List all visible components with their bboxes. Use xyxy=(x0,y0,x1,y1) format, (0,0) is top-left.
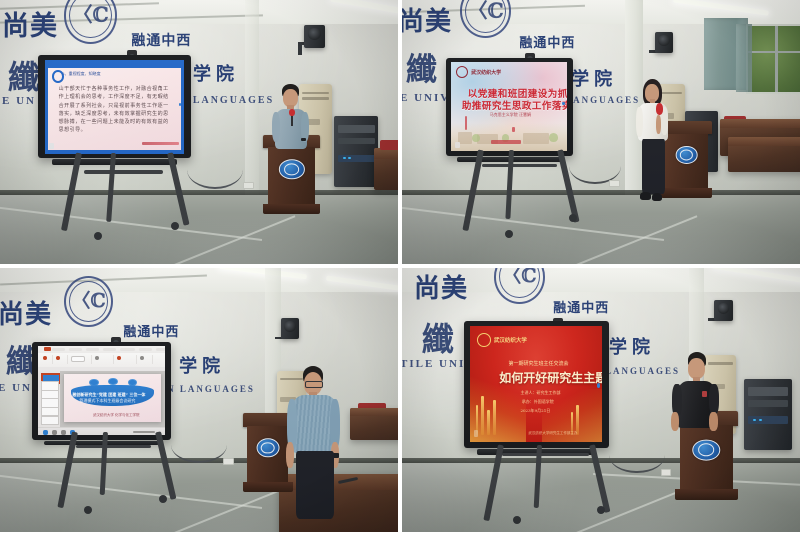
conference-table xyxy=(350,408,398,440)
wall-text-shangmei: 尚美 xyxy=(2,13,58,40)
tab-animations[interactable] xyxy=(139,348,152,352)
podium-university-logo-icon xyxy=(693,440,720,461)
wall-text-calligraphy: 纖 xyxy=(8,61,41,93)
slide-meta-line2: 承办：外国语学院 xyxy=(522,399,554,405)
display-stand-caster-left xyxy=(84,506,92,514)
slide-logo-text: 武汉纺织大学 xyxy=(494,336,527,344)
window-mullion-h xyxy=(748,51,800,54)
forearm-raised xyxy=(656,115,661,134)
slide-bullet-heading: 2、重视程度、知晓度 xyxy=(62,71,101,77)
slide-corner-dot xyxy=(597,383,600,388)
wall-text-xueyuan: 学院 xyxy=(179,358,225,376)
ribbon-icon-3[interactable] xyxy=(71,356,85,362)
ppt-thumbnail-pane[interactable] xyxy=(38,371,61,428)
display-power-cable xyxy=(609,437,665,473)
wall-text-english-left: E UN xyxy=(2,95,36,107)
slide-left-bar xyxy=(45,60,48,154)
display-stand-rail xyxy=(84,170,164,173)
display-screen[interactable]: 武汉纺织大学 以党建和班团建设为抓手 助推研究生思政工作落实落细 马克思主义学院… xyxy=(451,62,567,151)
wall-text-rongtong: 融通中西 xyxy=(131,34,191,48)
microphone-handle xyxy=(291,115,293,126)
glasses-icon xyxy=(305,381,323,388)
slide-deco-icon-2 xyxy=(108,378,118,385)
slide-thumbnail-6[interactable] xyxy=(41,416,59,425)
wall-speaker xyxy=(281,318,299,339)
ppt-current-slide[interactable]: 融创新研究生“党建 团建 班建” 三位一体 管理模式下本科生班级会议研究 武汉纺… xyxy=(64,374,161,422)
slide-presenter-line: 马克思主义学院 汪慧娟 xyxy=(490,112,531,118)
slide-footer-badge xyxy=(491,140,521,144)
speaker-bracket-2 xyxy=(298,42,302,55)
wall-text-calligraphy: 纖 xyxy=(422,323,455,355)
slide-footer: 武汉纺织大学研究生工作部主办 xyxy=(528,431,577,436)
wall-text-english-right: N LANGUAGES xyxy=(167,384,255,394)
lecture-room-3: 〈ℂ 尚美 纖 融通中西 学院 E UN N LANGUAGES xyxy=(0,268,398,532)
wall-speaker xyxy=(304,25,325,48)
wall-text-xueyuan: 学院 xyxy=(571,71,617,89)
rack-unit-2 xyxy=(748,400,788,406)
gold-column-3 xyxy=(487,410,490,435)
tab-design[interactable] xyxy=(103,348,116,352)
campus-building xyxy=(458,132,472,144)
forearm-right xyxy=(709,412,718,431)
slide-corner-dot xyxy=(562,102,565,106)
slide-logo-text: 武汉纺织大学 xyxy=(471,69,501,76)
panel-bottom-right: 〈ℂ 尚美 纖 融通中西 学院 TILE UNI LANGUAGES xyxy=(402,268,800,532)
window-mullion-v xyxy=(775,26,778,92)
slide-watercolor-title: 武汉纺织大学 以党建和班团建设为抓手 助推研究生思政工作落实落细 马克思主义学院… xyxy=(451,62,567,151)
wall-text-english-left: E UN xyxy=(0,382,32,394)
ppt-slide-canvas[interactable]: 融创新研究生“党建 团建 班建” 三位一体 管理模式下本科生班级会议研究 武汉纺… xyxy=(60,371,165,428)
display-stand-rail xyxy=(502,453,590,457)
presenter-male-striped-shirt xyxy=(283,366,351,519)
wall-speaker xyxy=(655,32,673,53)
interactive-display[interactable]: 2、重视程度、知晓度 山干部天忙于各种事务性工作，对融合视角工作上理机会的思考，… xyxy=(38,55,191,158)
display-screen[interactable]: 2、重视程度、知晓度 山干部天忙于各种事务性工作，对融合视角工作上理机会的思考，… xyxy=(45,60,184,154)
status-icon-sorter-view[interactable] xyxy=(52,430,57,435)
panel-top-left: 〈ℂ 尚美 纖 融通中西 学院 E UN N LANGUAGES xyxy=(0,0,398,264)
slide-pink-text: 2、重视程度、知晓度 山干部天忙于各种事务性工作，对融合视角工作上理机会的思考，… xyxy=(45,60,184,154)
forearm-left xyxy=(286,442,294,468)
head xyxy=(688,358,705,379)
wall-text-english-right: N LANGUAGES xyxy=(179,95,274,106)
slide-logo: 武汉纺织大学 xyxy=(456,66,501,78)
microphone-icon xyxy=(656,103,663,114)
slide-corner-square xyxy=(49,143,55,149)
display-stand-rail xyxy=(76,445,152,448)
powerpoint-app[interactable]: 融创新研究生“党建 团建 班建” 三位一体 管理模式下本科生班级会议研究 武汉纺… xyxy=(38,346,165,435)
shoe-left xyxy=(640,192,650,200)
podium-base xyxy=(263,204,321,214)
interactive-display[interactable]: 融创新研究生“党建 团建 班建” 三位一体 管理模式下本科生班级会议研究 武汉纺… xyxy=(32,342,171,440)
slide-logo: 武汉纺织大学 xyxy=(477,333,527,347)
red-chair xyxy=(380,140,398,151)
ppt-status-bar[interactable] xyxy=(38,427,165,435)
arm-left xyxy=(636,107,643,137)
presenter-male-blue-polo xyxy=(263,84,327,153)
equipment-rack xyxy=(744,379,792,450)
ppt-slide-footer: 武汉纺织大学 化学与化工学院 xyxy=(93,413,140,418)
podium-base xyxy=(675,489,739,501)
photo-collage: 〈ℂ 尚美 纖 融通中西 学院 E UN N LANGUAGES xyxy=(0,0,800,533)
campus-tree-3 xyxy=(549,133,558,142)
rack-unit xyxy=(338,125,375,134)
arm-right xyxy=(709,384,719,415)
slide-meta-line1: 主讲人：研究生工作部 xyxy=(520,390,560,396)
campus-flag-2 xyxy=(512,127,515,131)
wristwatch xyxy=(301,138,306,141)
wall-text-english-left: TILE UNI xyxy=(402,358,465,370)
rack-led-icon xyxy=(753,419,756,421)
equipment-rack xyxy=(334,116,378,187)
wall-speaker xyxy=(714,300,732,321)
wall-socket xyxy=(609,180,620,187)
display-screen[interactable]: 武汉纺织大学 第一期研究生班主任交流会 如何开好研究生主题班会 主讲人：研究生工… xyxy=(470,326,602,441)
slide-corner-square xyxy=(474,430,479,437)
zoom-slider[interactable] xyxy=(133,431,155,433)
slide-corner-square xyxy=(455,142,460,148)
slide-title-line2: 助推研究生思政工作落实落细 xyxy=(462,98,568,112)
wooden-desk-front xyxy=(728,137,800,171)
legs-trousers xyxy=(296,451,334,518)
wall-socket xyxy=(223,458,234,465)
slide-watermark xyxy=(142,142,178,146)
campus-flag xyxy=(465,116,466,130)
wall-text-rongtong: 融通中西 xyxy=(123,326,179,339)
display-power-cable xyxy=(171,426,227,462)
wall-text-calligraphy: 纖 xyxy=(406,55,438,86)
rack-unit xyxy=(748,387,788,396)
wall-text-rongtong: 融通中西 xyxy=(519,37,575,50)
window-curtain-right xyxy=(736,24,752,93)
lecture-room-4: 〈ℂ 尚美 纖 融通中西 学院 TILE UNI LANGUAGES xyxy=(402,268,800,532)
display-stand-caster-right xyxy=(569,214,577,222)
display-stand-caster-right xyxy=(597,506,605,514)
window xyxy=(746,24,800,94)
tshirt-chest-badge xyxy=(702,391,707,397)
desk-top xyxy=(720,119,800,129)
status-icon-normal-view[interactable] xyxy=(43,430,48,435)
desk-top-front xyxy=(728,137,800,146)
gold-column-2 xyxy=(481,396,484,435)
microphone-icon xyxy=(289,109,295,116)
presenter-female-white-blouse xyxy=(629,79,681,206)
slide-red-title: 武汉纺织大学 第一期研究生班主任交流会 如何开好研究生主题班会 主讲人：研究生工… xyxy=(470,326,602,441)
legs-trousers xyxy=(642,139,665,195)
wall-text-english-left: E UNIV xyxy=(402,92,450,104)
display-power-cable xyxy=(569,148,621,184)
ppt-slide-title-line2: 管理模式下本科生班级会议研究 xyxy=(79,398,135,404)
presenter-male-black-tshirt xyxy=(669,352,733,439)
panel-bottom-left: 〈ℂ 尚美 纖 融通中西 学院 E UN N LANGUAGES xyxy=(0,268,398,532)
campus-tree xyxy=(472,134,480,142)
wall-socket xyxy=(661,469,672,476)
forearm-left xyxy=(671,412,679,431)
arm-left xyxy=(272,112,280,142)
slide-logo-icon xyxy=(456,66,468,78)
interactive-display[interactable]: 武汉纺织大学 第一期研究生班主任交流会 如何开好研究生主题班会 主讲人：研究生工… xyxy=(464,321,609,448)
status-icon-reading-view[interactable] xyxy=(61,430,66,435)
lecture-room-2: 〈ℂ 尚美 纖 融通中西 学院 E UNIV LANGUAGES xyxy=(402,0,800,264)
desk-top xyxy=(350,408,398,416)
slide-main-title: 如何开好研究生主题班会 xyxy=(499,369,602,386)
tab-transitions[interactable] xyxy=(120,348,135,352)
wall-socket xyxy=(243,182,254,189)
display-power-cable xyxy=(187,150,243,189)
display-screen[interactable]: 融创新研究生“党建 团建 班建” 三位一体 管理模式下本科生班级会议研究 武汉纺… xyxy=(38,346,165,435)
tab-home[interactable] xyxy=(69,348,82,352)
shoe-right xyxy=(652,193,662,201)
slide-right-bar xyxy=(181,60,184,154)
tab-insert[interactable] xyxy=(86,348,99,352)
panel-top-right: 〈ℂ 尚美 纖 融通中西 学院 E UNIV LANGUAGES xyxy=(402,0,800,264)
slide-meta-line3: 2023年9月21日 xyxy=(520,408,550,414)
display-stand-rail xyxy=(482,164,558,167)
wall-text-xueyuan: 学院 xyxy=(609,339,655,357)
wall-text-xueyuan: 学院 xyxy=(193,66,239,84)
lecture-room: 〈ℂ 尚美 纖 融通中西 学院 E UN N LANGUAGES xyxy=(0,0,398,264)
tab-file[interactable] xyxy=(52,348,65,352)
wall-text-shangmei: 尚美 xyxy=(414,276,468,302)
slide-logo-icon xyxy=(477,333,491,347)
ppt-ribbon[interactable] xyxy=(38,353,165,368)
tab-slideshow[interactable] xyxy=(156,348,165,352)
slide-body-text: 山干部天忙于各种事务性工作，对融合视角工作上理机会的思考，工作深度不足，有无暇结… xyxy=(59,85,171,134)
rack-led-icon-2 xyxy=(759,419,762,421)
slide-top-bar xyxy=(45,60,184,68)
wall-text-shangmei: 尚美 xyxy=(402,9,452,35)
rack-unit-2 xyxy=(338,138,375,144)
side-desk xyxy=(374,148,398,190)
interactive-display[interactable]: 武汉纺织大学 以党建和班团建设为抓手 助推研究生思政工作落实落细 马克思主义学院… xyxy=(446,58,573,156)
slide-kicker: 第一期研究生班主任交流会 xyxy=(509,360,569,367)
display-stand-caster-left xyxy=(94,232,102,240)
campus-building-3 xyxy=(523,133,549,145)
ppt-app-icon xyxy=(44,347,50,351)
gold-column-4 xyxy=(493,400,496,435)
ppt-ribbon-tabs[interactable] xyxy=(52,348,165,352)
wall-text-shangmei: 尚美 xyxy=(0,302,52,328)
wall-text-rongtong: 融通中西 xyxy=(553,302,609,315)
display-stand-caster-right xyxy=(171,222,179,230)
